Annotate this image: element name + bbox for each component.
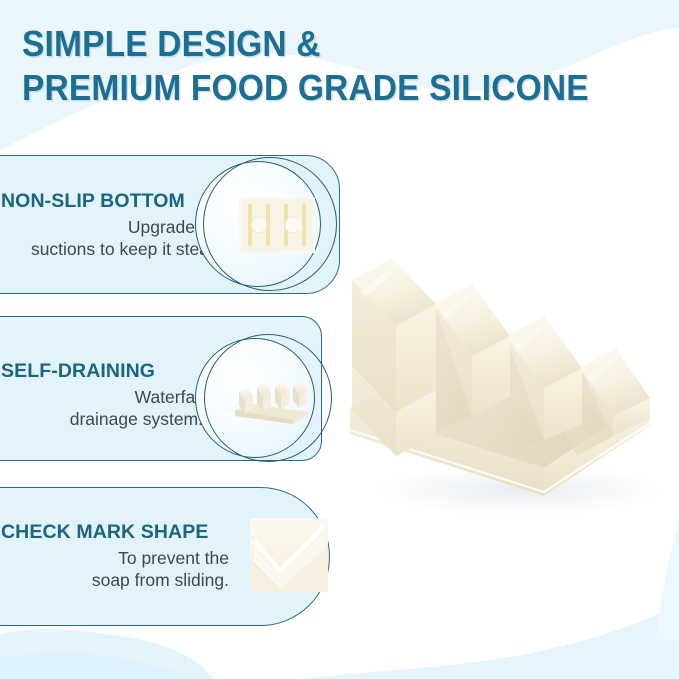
feature-card-2-title: SELF-DRAINING: [1, 359, 203, 383]
feature-thumbnail-badge-self-draining: [204, 334, 332, 462]
page-title: SIMPLE DESIGN & PREMIUM FOOD GRADE SILIC…: [22, 22, 662, 110]
soap-dish-drainage-fins-thumbnail: [231, 374, 311, 424]
headline-line-1: SIMPLE DESIGN &: [22, 22, 617, 66]
infographic-canvas: SIMPLE DESIGN & PREMIUM FOOD GRADE SILIC…: [0, 0, 679, 679]
feature-card-3-title: CHECK MARK SHAPE: [1, 520, 229, 544]
feature-card-2-body: Waterfall drainage system.: [1, 386, 203, 430]
soap-dish-bottom-suctions-thumbnail: [239, 197, 315, 253]
product-hero-image: [330, 240, 679, 540]
feature-thumbnail-badge-non-slip: [203, 157, 337, 291]
check-mark-profile-thumbnail: [250, 518, 328, 592]
feature-thumbnail-badge-check-mark: [250, 518, 328, 592]
feature-card-2-text: SELF-DRAINING Waterfall drainage system.: [1, 359, 211, 430]
headline-line-2: PREMIUM FOOD GRADE SILICONE: [22, 66, 617, 110]
feature-card-3-body: To prevent the soap from sliding.: [1, 547, 229, 591]
feature-card-3-text: CHECK MARK SHAPE To prevent the soap fro…: [1, 520, 237, 591]
